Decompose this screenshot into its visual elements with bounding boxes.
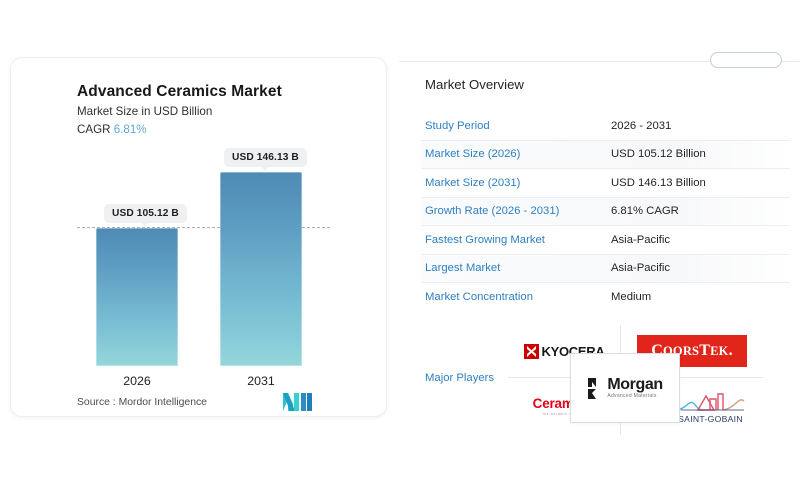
row-value: USD 146.13 Billion — [611, 177, 706, 189]
saint-gobain-wordmark: SAINT-GOBAIN — [676, 414, 746, 424]
infographic-root: Advanced Ceramics Market Market Size in … — [0, 0, 800, 500]
collapsed-pill-button[interactable] — [710, 52, 782, 68]
table-row: Market Size (2026) USD 105.12 Billion — [421, 140, 790, 169]
table-row: Growth Rate (2026 - 2031) 6.81% CAGR — [421, 197, 790, 226]
major-players-logo-grid: KYOCERA COORSTEK. CeramTec the ceramic e… — [508, 325, 763, 437]
morgan-tagline: Advanced Materials — [607, 394, 662, 399]
bar-2026[interactable] — [96, 228, 178, 366]
mordor-intelligence-logo — [283, 392, 314, 411]
row-key: Study Period — [421, 120, 611, 132]
saint-gobain-logo: SAINT-GOBAIN — [676, 391, 746, 424]
row-key: Market Concentration — [421, 291, 611, 303]
morgan-mark-icon — [587, 378, 604, 399]
row-key: Fastest Growing Market — [421, 234, 611, 246]
overview-heading: Market Overview — [425, 77, 524, 92]
overview-table: Study Period 2026 - 2031 Market Size (20… — [421, 112, 790, 311]
x-axis-tick-2026: 2026 — [96, 374, 178, 388]
row-value: 2026 - 2031 — [611, 120, 671, 132]
bar-2031[interactable] — [220, 172, 302, 366]
row-key: Largest Market — [421, 262, 611, 274]
row-value: Medium — [611, 291, 651, 303]
row-value: USD 105.12 Billion — [611, 148, 706, 160]
bar-chart-plot: USD 105.12 B USD 146.13 B 2026 2031 — [11, 58, 387, 417]
bar-label-2026: USD 105.12 B — [104, 204, 187, 223]
market-size-chart-card: Advanced Ceramics Market Market Size in … — [10, 57, 387, 417]
row-key: Market Size (2031) — [421, 177, 611, 189]
row-value: Asia-Pacific — [611, 262, 670, 274]
morgan-logo: Morgan Advanced Materials — [587, 377, 662, 399]
saint-gobain-mark-icon — [676, 391, 746, 413]
row-key: Growth Rate (2026 - 2031) — [421, 205, 611, 217]
bar-label-2031: USD 146.13 B — [224, 148, 307, 167]
chart-source: Source : Mordor Intelligence — [77, 397, 207, 408]
row-value: 6.81% CAGR — [611, 205, 679, 217]
table-row: Market Size (2031) USD 146.13 Billion — [421, 168, 790, 197]
table-row: Fastest Growing Market Asia-Pacific — [421, 225, 790, 254]
table-row: Largest Market Asia-Pacific — [421, 254, 790, 283]
major-players-label: Major Players — [425, 372, 494, 384]
kyocera-mark-icon — [524, 344, 539, 359]
market-overview-panel: Market Overview Study Period 2026 - 2031… — [400, 57, 790, 447]
table-row: Study Period 2026 - 2031 — [421, 112, 790, 140]
row-key: Market Size (2026) — [421, 148, 611, 160]
table-row: Market Concentration Medium — [421, 282, 790, 311]
x-axis-tick-2031: 2031 — [220, 374, 302, 388]
player-cell-morgan[interactable]: Morgan Advanced Materials — [570, 353, 680, 423]
morgan-wordmark-group: Morgan Advanced Materials — [607, 377, 662, 399]
morgan-wordmark: Morgan — [607, 377, 662, 393]
row-value: Asia-Pacific — [611, 234, 670, 246]
